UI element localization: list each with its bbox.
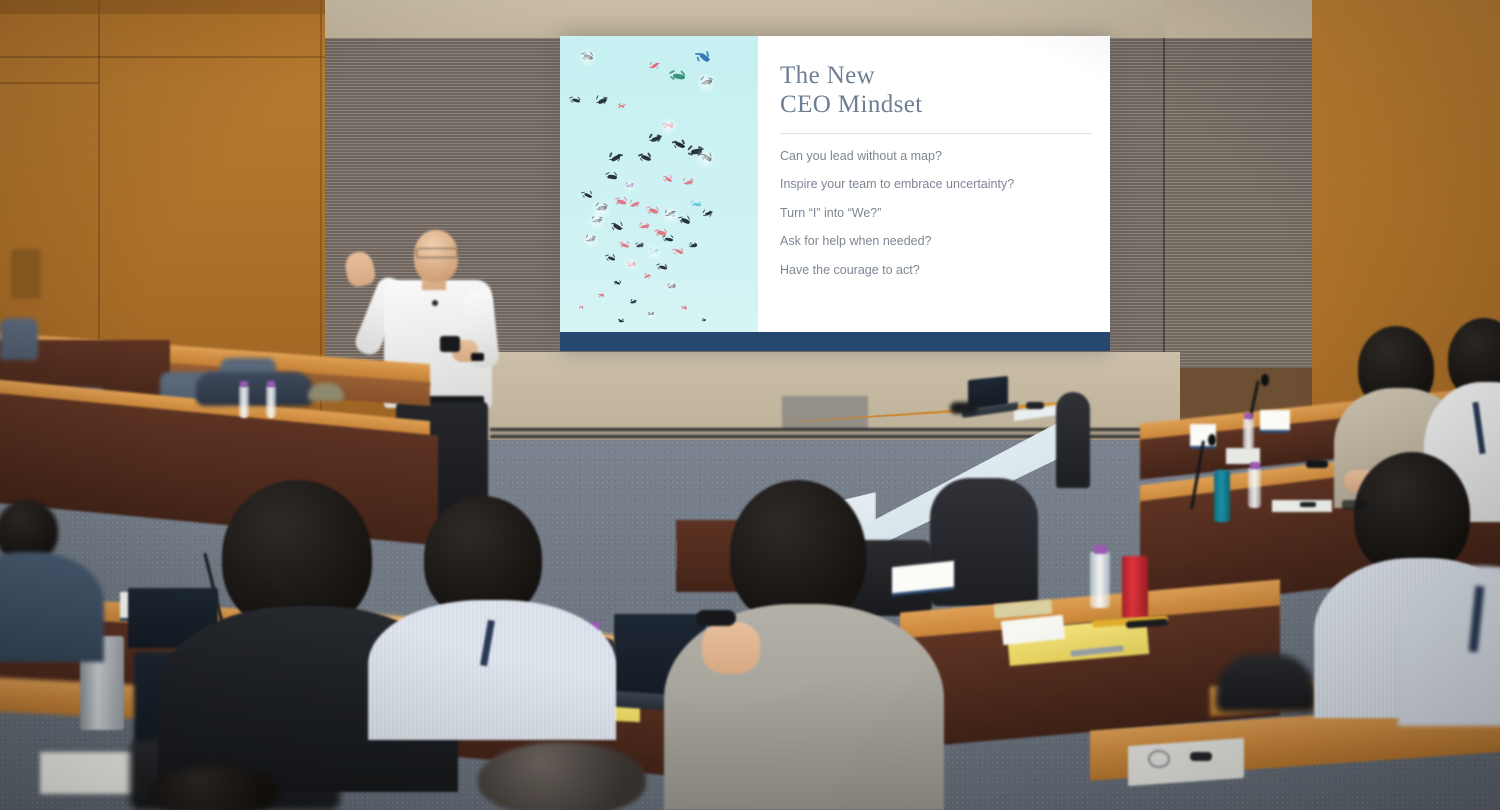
presenter-wristwatch (471, 353, 484, 361)
slide-bullet-3: Turn “I” into “We?” (780, 205, 1092, 222)
slide-bullet-5: Have the courage to act? (780, 262, 1092, 279)
slide-divider (780, 133, 1092, 134)
projection-screen: The New CEO Mindset Can you lead without… (560, 36, 1110, 351)
desk-port-icon (1190, 752, 1212, 761)
slide-bullet-1: Can you lead without a map? (780, 148, 1092, 165)
slide-image-skydivers (560, 36, 758, 351)
mouse-center (1026, 402, 1044, 409)
soda-can (1122, 556, 1148, 618)
bottle-cap-right-2 (1250, 462, 1260, 469)
microphone-head-right-1 (1261, 374, 1269, 386)
cable-center (950, 402, 978, 414)
slide-footer-band (560, 332, 1110, 351)
glasses-attendee-right (1342, 500, 1368, 510)
presenter-phone (440, 336, 460, 352)
presenter-raised-hand (343, 249, 377, 288)
slide-title: The New CEO Mindset (780, 62, 1092, 120)
wall-sign (12, 250, 40, 298)
desk-grommet-icon (1148, 750, 1170, 768)
cap (308, 383, 344, 401)
acoustic-panel-wall-right (1165, 38, 1315, 368)
presenter-glasses (416, 248, 458, 258)
slide: The New CEO Mindset Can you lead without… (560, 36, 1110, 351)
chair-mesh-bottom-right (1216, 654, 1316, 712)
presenter-lapel-mic (432, 300, 438, 306)
chair-blue-back-1 (0, 318, 38, 360)
backpack (196, 372, 314, 406)
water-bottle-front-right (1090, 552, 1110, 608)
name-card-right-2 (1260, 410, 1290, 433)
slide-bullet-4: Ask for help when needed? (780, 233, 1092, 250)
slide-text-panel: The New CEO Mindset Can you lead without… (758, 36, 1110, 351)
lecture-hall-scene: The New CEO Mindset Can you lead without… (0, 0, 1500, 810)
water-bottle-right-2 (1248, 468, 1261, 508)
bottle-cap-front-right (1094, 545, 1107, 554)
water-bottle-right-1 (1243, 418, 1254, 450)
bottle-cap-back-1 (240, 381, 248, 387)
panel-seam (1163, 38, 1165, 368)
bottle-cap-right-1 (1244, 413, 1253, 419)
slide-bullet-2: Inspire your team to embrace uncertainty… (780, 176, 1092, 193)
teal-tumbler (1214, 470, 1230, 522)
glasses-right (1306, 460, 1328, 468)
slide-title-line-2: CEO Mindset (780, 91, 1092, 120)
water-bottle-back-1 (239, 386, 249, 418)
bottle-cap-back-2 (267, 381, 275, 387)
wristwatch-attendee (696, 610, 736, 626)
desk-connectivity-panel (1128, 738, 1244, 786)
chair-mesh-center-1 (1056, 392, 1090, 488)
microphone-head-right-2 (1208, 434, 1216, 446)
pen-right (1300, 502, 1316, 507)
slide-title-line-1: The New (780, 62, 1092, 91)
water-bottle-back-2 (266, 386, 276, 418)
